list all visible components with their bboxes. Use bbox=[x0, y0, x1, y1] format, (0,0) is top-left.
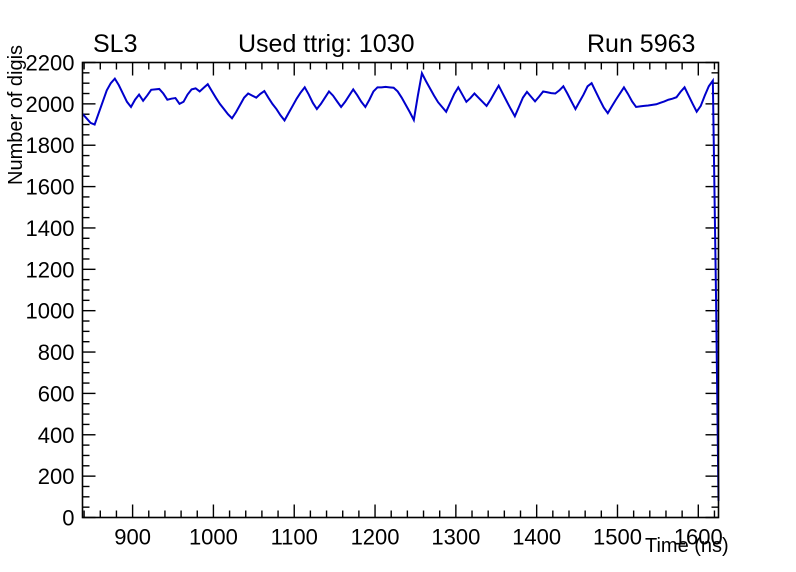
x-tick-label: 1600 bbox=[674, 525, 723, 550]
y-tick-label: 2200 bbox=[26, 51, 75, 76]
y-tick-label: 1600 bbox=[26, 175, 75, 200]
axis-ticks bbox=[83, 63, 719, 518]
x-tick-label: 1300 bbox=[431, 525, 480, 550]
plot-frame bbox=[83, 63, 719, 518]
title-center: Used ttrig: 1030 bbox=[238, 30, 415, 58]
y-tick-label: 400 bbox=[38, 423, 75, 448]
x-tick-label: 900 bbox=[114, 525, 151, 550]
y-tick-label: 1400 bbox=[26, 216, 75, 241]
y-axis-title: Number of digis bbox=[5, 45, 27, 185]
y-tick-label: 1800 bbox=[26, 133, 75, 158]
root-plot-svg: SL3 Used ttrig: 1030 Run 5963 Number of … bbox=[0, 0, 796, 572]
x-tick-label: 1500 bbox=[593, 525, 642, 550]
x-tick-label: 1200 bbox=[351, 525, 400, 550]
chart-canvas: SL3 Used ttrig: 1030 Run 5963 Number of … bbox=[0, 0, 796, 572]
y-tick-label: 200 bbox=[38, 464, 75, 489]
y-tick-label: 800 bbox=[38, 340, 75, 365]
x-tick-label: 1400 bbox=[512, 525, 561, 550]
data-series-line bbox=[83, 73, 719, 501]
y-tick-label: 600 bbox=[38, 381, 75, 406]
axis-tick-labels: 9001000110012001300140015001600020040060… bbox=[26, 51, 723, 550]
y-tick-label: 1000 bbox=[26, 299, 75, 324]
title-right: Run 5963 bbox=[587, 30, 695, 58]
y-tick-label: 2000 bbox=[26, 92, 75, 117]
x-tick-label: 1100 bbox=[271, 525, 318, 550]
title-left: SL3 bbox=[93, 30, 137, 58]
y-tick-label: 1200 bbox=[26, 257, 75, 282]
x-tick-label: 1000 bbox=[189, 525, 238, 550]
y-tick-label: 0 bbox=[62, 506, 74, 531]
